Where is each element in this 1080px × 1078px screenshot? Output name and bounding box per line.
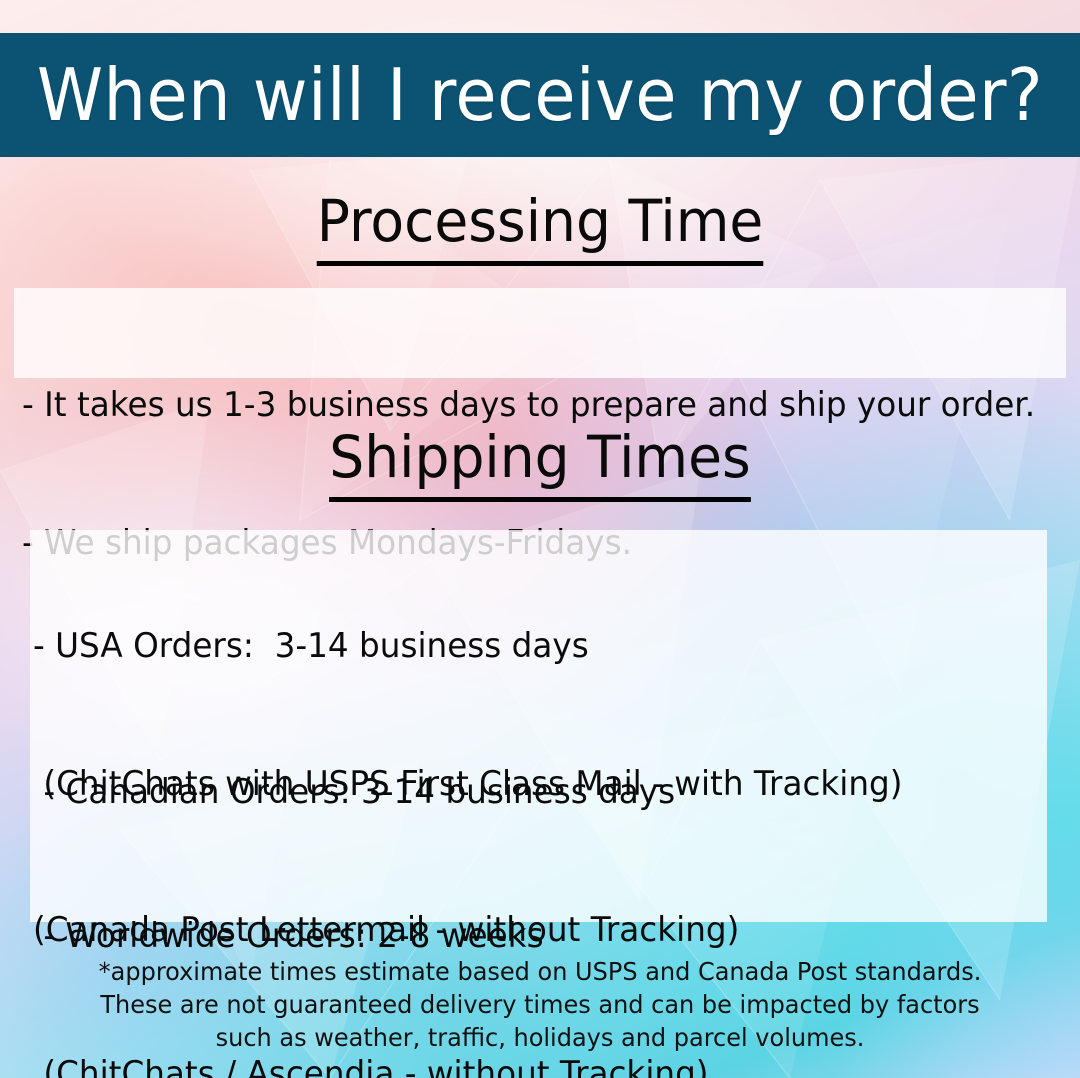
- shipping-entry-worldwide-line-2: (ChitChats / Ascendia - without Tracking…: [33, 1051, 709, 1078]
- section-heading-shipping-times: Shipping Times: [27, 428, 1053, 486]
- shipping-entry-usa-line-1: - USA Orders: 3-14 business days: [33, 623, 903, 669]
- footnote-line-2: These are not guaranteed delivery times …: [22, 988, 1059, 1021]
- section-heading-shipping-times-label: Shipping Times: [329, 423, 750, 502]
- page-title: When will I receive my order?: [37, 59, 1043, 131]
- section-heading-processing-time-label: Processing Time: [317, 187, 764, 266]
- shipping-info-poster: When will I receive my order? Processing…: [0, 0, 1080, 1078]
- footnote-line-1: *approximate times estimate based on USP…: [22, 955, 1059, 988]
- processing-time-line-1: - It takes us 1-3 business days to prepa…: [22, 382, 1035, 428]
- footnote: *approximate times estimate based on USP…: [22, 955, 1059, 1054]
- header-band: When will I receive my order?: [0, 33, 1080, 157]
- shipping-entry-worldwide-line-1: - Worldwide Orders: 2-8 weeks: [33, 913, 709, 959]
- footnote-line-3: such as weather, traffic, holidays and p…: [22, 1021, 1059, 1054]
- section-heading-processing-time: Processing Time: [27, 192, 1053, 250]
- shipping-entry-canada-line-1: - Canadian Orders: 3-14 business days: [33, 769, 739, 815]
